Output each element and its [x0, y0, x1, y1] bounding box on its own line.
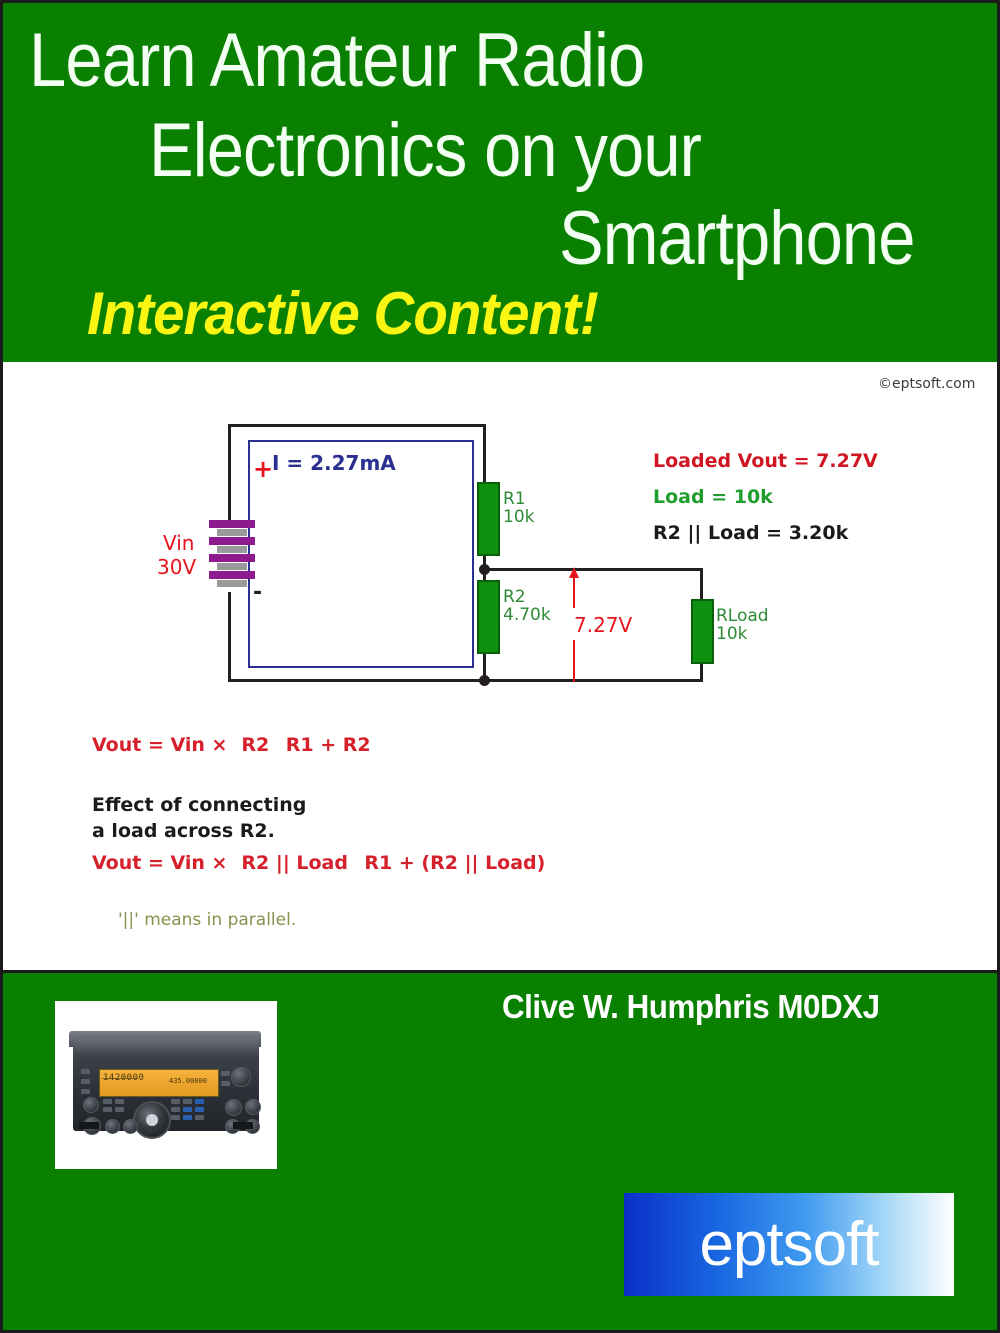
formula-unloaded-denominator: R1 + R2 — [280, 733, 377, 756]
book-cover: Learn Amateur Radio Electronics on your … — [0, 0, 1000, 1333]
radio-button — [115, 1099, 124, 1104]
formula-unloaded-fraction: R2 R1 + R2 — [235, 734, 376, 756]
radio-knob-mid-right — [225, 1099, 242, 1116]
radio-foot-left — [79, 1122, 99, 1129]
radio-button — [171, 1107, 180, 1112]
formula-unloaded: Vout = Vin × R2 R1 + R2 — [92, 734, 377, 756]
radio-knob-bottom-left — [105, 1119, 120, 1134]
formula-note: Effect of connecting a load across R2. — [92, 792, 306, 844]
radio-button — [195, 1115, 204, 1120]
radio-button — [221, 1081, 230, 1086]
formula-loaded: Vout = Vin × R2 || Load R1 + (R2 || Load… — [92, 852, 551, 874]
header-band: Learn Amateur Radio Electronics on your … — [0, 0, 1000, 362]
radio-button-blue — [195, 1107, 204, 1112]
radio-knob-right — [245, 1099, 261, 1115]
formula-note-line-1: Effect of connecting — [92, 794, 306, 816]
title-line-2: Electronics on your — [149, 107, 701, 194]
radio-main-tuning-dial — [133, 1101, 171, 1139]
radio-button — [183, 1099, 192, 1104]
author-name: Clive W. Humphris M0DXJ — [502, 988, 880, 1026]
formula-loaded-lhs: Vout = Vin × — [92, 852, 227, 874]
radio-mic-jack — [83, 1097, 99, 1113]
formula-loaded-numerator: R2 || Load — [235, 852, 354, 875]
radio-button — [103, 1099, 112, 1104]
formula-loaded-denominator: R1 + (R2 || Load) — [358, 851, 551, 874]
title-line-1: Learn Amateur Radio — [29, 17, 644, 104]
radio-button-blue — [183, 1115, 192, 1120]
formula-unloaded-numerator: R2 — [235, 734, 275, 757]
formula-loaded-fraction: R2 || Load R1 + (R2 || Load) — [235, 852, 551, 874]
radio-button — [115, 1107, 124, 1112]
formula-footnote: '||' means in parallel. — [118, 910, 296, 930]
radio-button — [81, 1079, 90, 1084]
formula-note-line-2: a load across R2. — [92, 820, 275, 842]
radio-foot-right — [233, 1122, 253, 1129]
radio-button — [103, 1107, 112, 1112]
radio-front-panel: 1420000 435.00000 — [73, 1039, 259, 1131]
radio-button — [171, 1115, 180, 1120]
eptsoft-logo-text: eptsoft — [624, 1193, 954, 1296]
radio-button-blue — [195, 1099, 204, 1104]
radio-button — [221, 1071, 230, 1076]
eptsoft-logo: eptsoft — [624, 1193, 954, 1296]
title-line-3: Smartphone — [559, 195, 915, 282]
radio-transceiver-image: 1420000 435.00000 — [67, 1025, 265, 1143]
radio-knob-bottom-left-2 — [123, 1119, 138, 1134]
tagline: Interactive Content! — [87, 279, 598, 348]
radio-dial-finger-dimple — [146, 1114, 158, 1126]
radio-button-blue — [183, 1107, 192, 1112]
radio-knob-top-right — [231, 1067, 251, 1087]
radio-button — [81, 1089, 90, 1094]
radio-photo-frame: 1420000 435.00000 — [55, 1001, 277, 1169]
radio-button — [81, 1069, 90, 1074]
formula-section: Vout = Vin × R2 R1 + R2 Effect of connec… — [0, 362, 1000, 970]
radio-frequency-primary: 1420000 — [103, 1073, 144, 1083]
formula-unloaded-lhs: Vout = Vin × — [92, 734, 227, 756]
radio-frequency-secondary: 435.00000 — [169, 1077, 207, 1085]
radio-button — [171, 1099, 180, 1104]
